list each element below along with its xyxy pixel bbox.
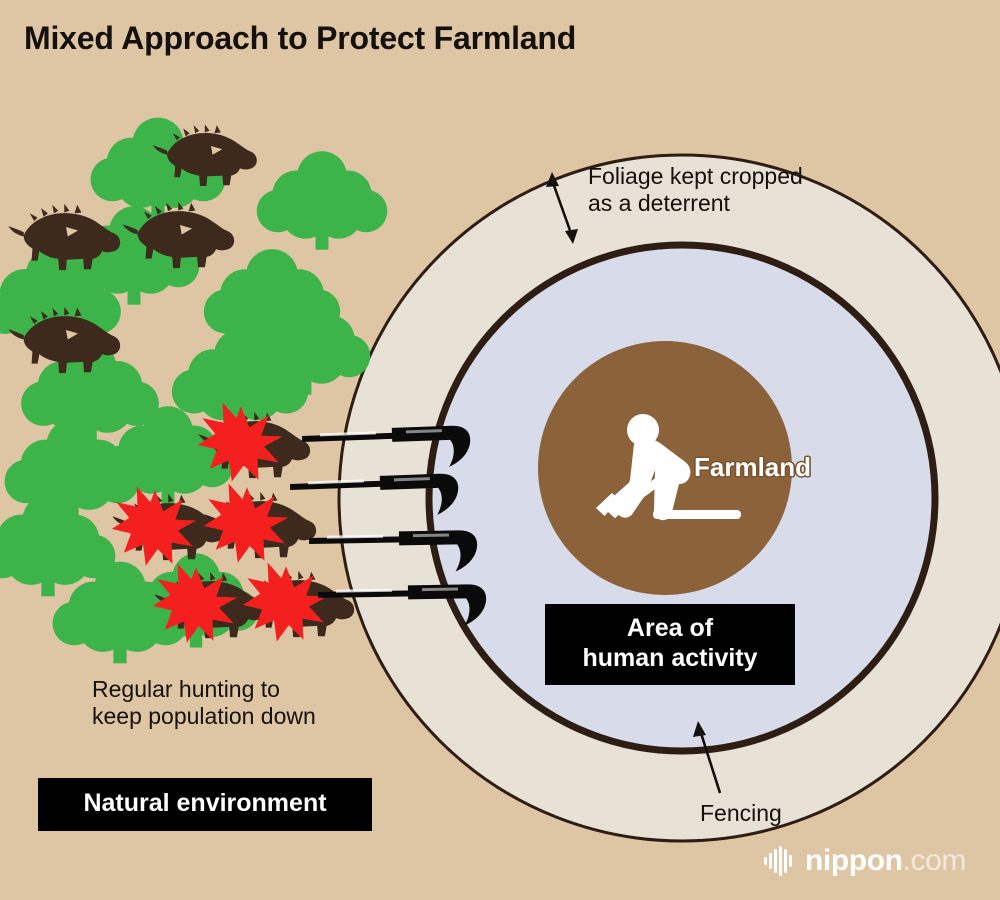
fencing-callout-label: Fencing (700, 800, 782, 827)
hunting-callout-label: Regular hunting to keep population down (92, 676, 316, 730)
logo-wordmark: nippon.com (805, 846, 966, 876)
foliage-callout-label: Foliage kept cropped as a deterrent (588, 163, 803, 217)
page-title: Mixed Approach to Protect Farmland (24, 20, 576, 57)
infographic-root: Mixed Approach to Protect Farmland Folia… (0, 0, 1000, 900)
area-of-human-activity-badge: Area of human activity (545, 604, 795, 685)
logo-brand: nippon (805, 844, 903, 877)
logo-suffix: .com (903, 844, 966, 877)
natural-environment-badge: Natural environment (38, 778, 372, 831)
nippon-logo[interactable]: nippon.com (764, 846, 966, 876)
diagram-canvas (0, 0, 1000, 900)
farmland-label: Farmland (694, 452, 811, 483)
sound-bars-icon (764, 846, 796, 876)
